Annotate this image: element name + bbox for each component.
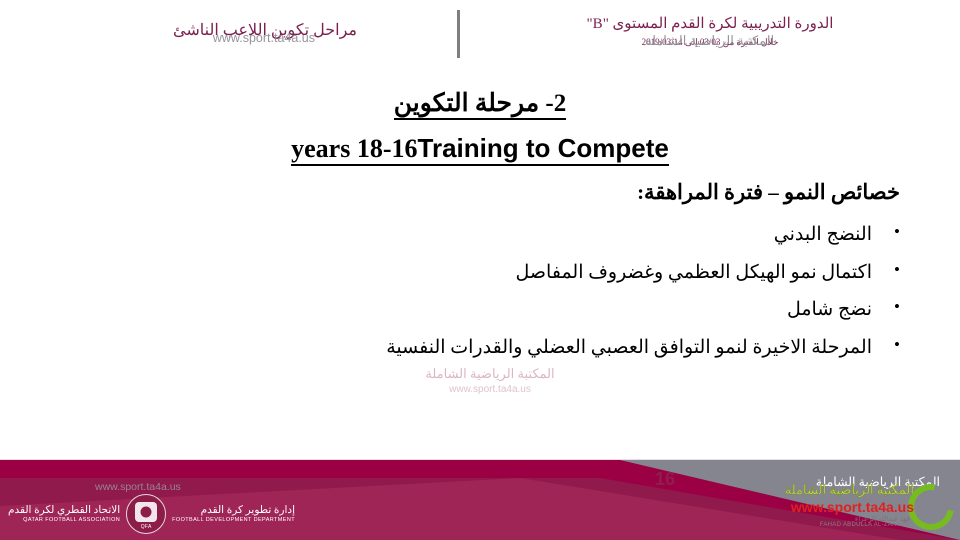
football-icon xyxy=(141,506,152,517)
library-url-red: www.sport.ta4a.us xyxy=(791,499,914,515)
slide-header: مراحل تكوين اللاعب الناشئ www.sport.ta4a… xyxy=(0,0,960,72)
qfa-association-english: QATAR FOOTBALL ASSOCIATION xyxy=(8,517,120,523)
center-watermark-url: www.sport.ta4a.us xyxy=(405,384,575,395)
slide: مراحل تكوين اللاعب الناشئ www.sport.ta4a… xyxy=(0,0,960,540)
page-title-english-numbers: years 18-16 xyxy=(291,134,417,166)
header-divider xyxy=(457,10,460,58)
qfa-association-text: الاتحاد القطري لكرة القدم QATAR FOOTBALL… xyxy=(8,505,120,523)
library-logo-watermark: المكتبة الرياضية الشاملة www.sport.ta4a.… xyxy=(744,482,954,528)
page-number: 16 xyxy=(655,469,675,490)
header-right-watermark-library: المكتبة الرياضية الشاملة xyxy=(645,33,774,49)
slide-title-arabic-row: 2- مرحلة التكوين xyxy=(0,88,960,118)
crest-label: QFA xyxy=(127,524,165,530)
qfa-association-arabic: الاتحاد القطري لكرة القدم xyxy=(8,505,120,517)
center-watermark-label: المكتبة الرياضية الشاملة xyxy=(405,366,575,382)
fdd-department-arabic: إدارة تطوير كرة القدم xyxy=(172,505,295,517)
list-item: نضج شامل xyxy=(60,297,900,323)
list-item: المرحلة الاخيرة لنمو التوافق العصبي العض… xyxy=(60,335,900,361)
fdd-department-text: إدارة تطوير كرة القدم FOOTBALL DEVELOPME… xyxy=(172,505,295,523)
list-item: اكتمال نمو الهيكل العظمي وغضروف المفاصل xyxy=(60,260,900,286)
author-name-english: FAHAD ABDULLA AL-ZARRAA xyxy=(820,522,910,528)
page-title-arabic: 2- مرحلة التكوين xyxy=(394,90,566,120)
library-label-green: المكتبة الرياضية الشاملة xyxy=(785,482,914,498)
growth-characteristics-list: النضج البدني اكتمال نمو الهيكل العظمي وغ… xyxy=(60,222,900,373)
page-title-english-words: Training to Compete xyxy=(418,133,669,166)
qfa-crest-icon: QFA xyxy=(126,494,166,534)
list-item: النضج البدني xyxy=(60,222,900,248)
slide-footer: www.sport.ta4a.us الاتحاد القطري لكرة ال… xyxy=(0,460,960,540)
footer-watermark-url: www.sport.ta4a.us xyxy=(95,481,181,493)
fdd-department-english: FOOTBALL DEVELOPMENT DEPARTMENT xyxy=(172,517,295,523)
slide-title-english-row: years 18-16Training to Compete xyxy=(0,133,960,164)
header-left-watermark-url: www.sport.ta4a.us xyxy=(213,31,315,45)
section-subheading: خصائص النمو – فترة المراهقة: xyxy=(637,180,900,205)
qfa-logo-block: الاتحاد القطري لكرة القدم QATAR FOOTBALL… xyxy=(8,494,295,534)
header-course-title: الدورة التدريبية لكرة القدم المستوى "B" xyxy=(470,14,950,33)
page-title-english: years 18-16Training to Compete xyxy=(291,133,669,166)
center-watermark: المكتبة الرياضية الشاملة www.sport.ta4a.… xyxy=(405,366,575,395)
